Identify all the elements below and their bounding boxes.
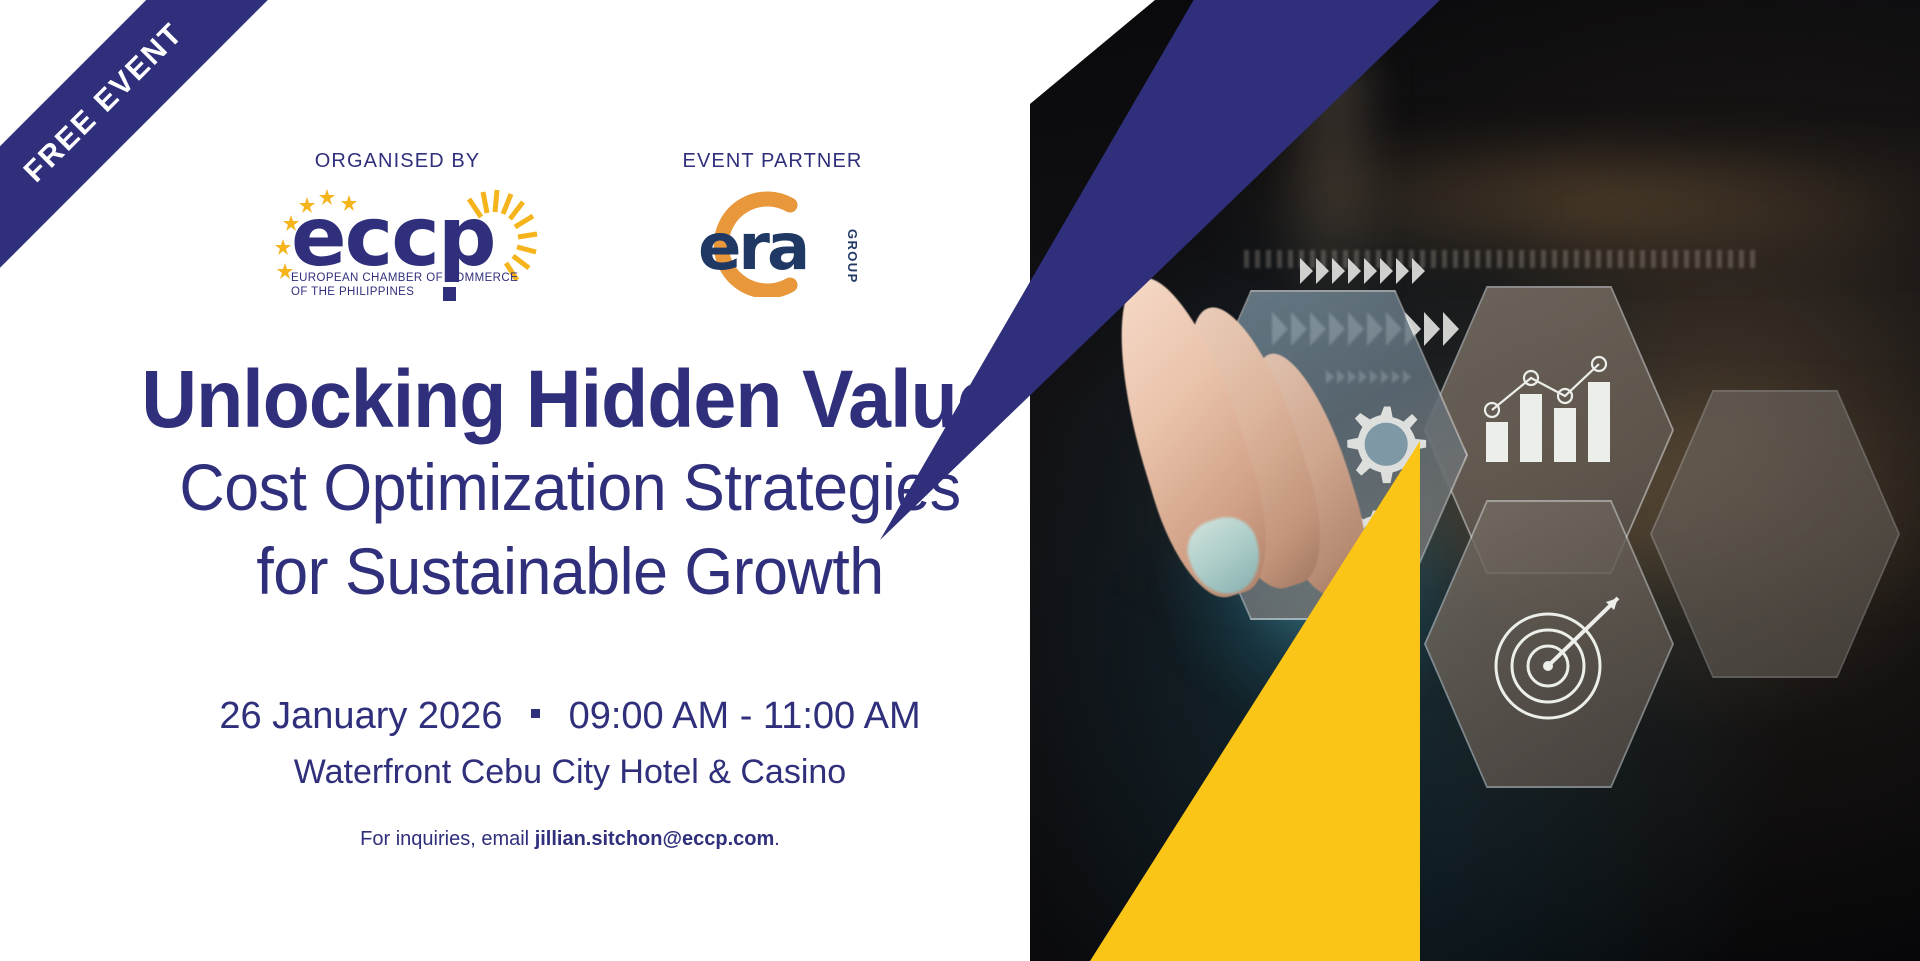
era-swoosh-icon: era GROUP xyxy=(670,185,875,297)
chevron-cluster-top xyxy=(1300,258,1425,284)
bar-chart-icon xyxy=(1478,350,1628,470)
event-date: 26 January 2026 xyxy=(219,695,502,737)
event-venue: Waterfront Cebu City Hotel & Casino xyxy=(0,746,1140,798)
inquiry-line: For inquiries, email jillian.sitchon@ecc… xyxy=(0,828,1140,851)
inquiry-email[interactable]: jillian.sitchon@eccp.com xyxy=(535,828,775,850)
inquiry-prefix: For inquiries, email xyxy=(360,828,535,850)
date-time-line: 26 January 2026 09:00 AM - 11:00 AM xyxy=(0,690,1140,742)
partner-logo-block: EVENT PARTNER era GROUP xyxy=(670,150,875,297)
target-icon xyxy=(1482,580,1632,730)
headline-sub-line1: Cost Optimization Strategies xyxy=(29,445,1112,529)
event-time: 09:00 AM - 11:00 AM xyxy=(569,695,921,737)
ribbon-band: FREE EVENT xyxy=(0,0,290,289)
event-details-block: 26 January 2026 09:00 AM - 11:00 AM Wate… xyxy=(0,690,1140,851)
inquiry-suffix: . xyxy=(774,828,780,850)
separator-dot xyxy=(531,709,540,718)
headline-main: Unlocking Hidden Value xyxy=(34,355,1106,445)
event-banner: FREE EVENT ORGANISED BY xyxy=(0,0,1920,961)
headline-sub-line2: for Sustainable Growth xyxy=(29,529,1112,613)
headline-block: Unlocking Hidden Value Cost Optimization… xyxy=(0,355,1140,613)
svg-text:era: era xyxy=(698,211,807,285)
eccp-square-mark xyxy=(443,287,456,301)
ribbon-label: FREE EVENT xyxy=(18,17,191,190)
era-group-logo: era GROUP xyxy=(670,185,875,297)
event-partner-label: EVENT PARTNER xyxy=(670,150,875,173)
svg-text:GROUP: GROUP xyxy=(845,229,860,284)
free-event-ribbon: FREE EVENT xyxy=(0,0,330,330)
